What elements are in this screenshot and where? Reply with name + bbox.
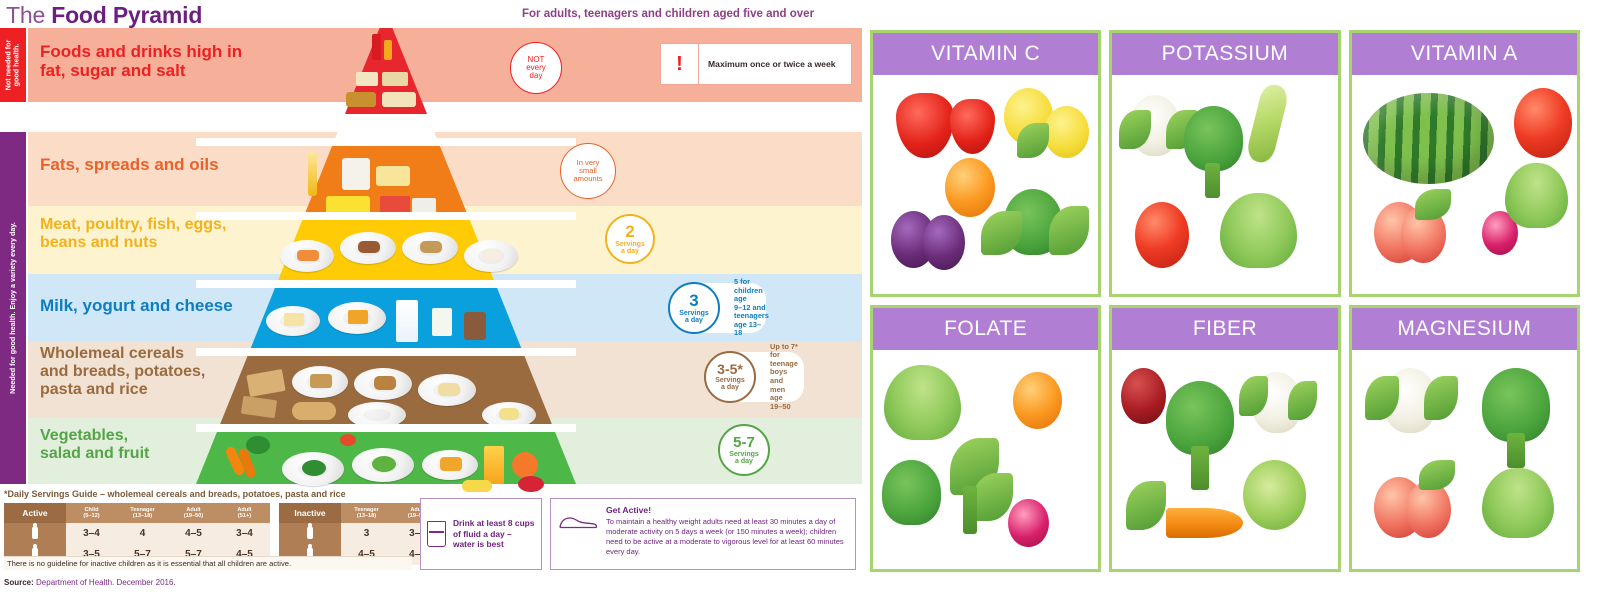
leaf-icon [1419,460,1455,491]
nutrient-cell-vitamin-c[interactable]: VITAMIN C [870,30,1101,297]
pyramid-tier-cereal [196,354,576,430]
tomato-icon [1514,88,1573,158]
cucumber-icon [1245,82,1290,165]
nutrient-cell-fiber[interactable]: FIBER [1109,305,1340,572]
nutrient-cell-vitamin-a[interactable]: VITAMIN A [1349,30,1580,297]
food-bread [310,374,332,388]
radish-icon [1008,499,1049,547]
food-sauce-pack [380,196,410,213]
pyramid-tier-vegetables [196,430,576,496]
nutrient-title: FOLATE [873,308,1098,350]
shoe-icon [558,514,598,531]
badge-milk-sub: Servings a day [679,310,709,325]
table-footnote: There is no guideline for inactive child… [4,556,412,570]
broccoli-stalk-icon [1191,446,1209,490]
strawberry-icon [896,93,955,159]
pyramid-tier-milk [196,286,576,354]
get-active-box: Get Active! To maintain a healthy weight… [550,498,856,570]
nutrient-foods [1352,350,1577,569]
badge-milk-servings: 3 Servings a day [668,282,720,334]
badge-veg-number: 5-7 [733,435,755,451]
badge-veg-servings: 5-7 Servings a day [718,424,770,476]
nutrient-grid-panel: VITAMIN C POTASSIUM [862,0,1600,600]
table-cell: 3 [341,523,392,544]
badge-not-line3: day [530,72,543,80]
food-cheddar [348,310,368,324]
orange-icon [945,158,995,217]
lettuce-icon [884,365,961,439]
max-frequency-box: ! Maximum once or twice a week [660,43,852,85]
food-banana [462,480,492,492]
nutrient-foods [873,75,1098,294]
band-label-fats: Fats, spreads and oils [40,155,219,174]
nutrient-cell-magnesium[interactable]: MAGNESIUM [1349,305,1580,572]
band-label-cereal: Wholemeal cereals and breads, potatoes, … [40,345,205,399]
food-orange [512,452,538,478]
side-tab-not-needed: Not needed for good health. [0,28,26,102]
lettuce-icon [1482,468,1554,538]
food-cereal [374,376,396,390]
food-milkshake [464,312,486,340]
nutrient-grid: VITAMIN C POTASSIUM [870,30,1580,572]
cabbage-icon [1243,460,1306,530]
food-milk-glass [396,300,418,342]
nutrient-foods [1112,75,1337,294]
food-meat [358,241,380,253]
badge-very-small-amounts: In very small amounts [560,143,616,199]
carrot-icon [1166,508,1243,539]
get-active-body: To maintain a healthy weight adults need… [606,517,844,556]
table-header: Adult (51+) [219,503,270,523]
page-title: The Food Pyramid [6,2,202,29]
food-biscuit [356,72,378,86]
get-active-text-block: Get Active! To maintain a healthy weight… [606,505,848,563]
nutrient-foods [873,350,1098,569]
drink-water-box: Drink at least 8 cups of fluid a day – w… [420,498,542,570]
broccoli-icon [882,460,941,526]
broccoli-icon [1166,381,1234,455]
badge-cereal-number: 3-5* [717,362,743,377]
nutrient-foods [1352,75,1577,294]
nutrient-title: POTASSIUM [1112,33,1337,75]
leaf-icon [1415,189,1451,220]
leaf-icon [1017,123,1049,158]
badge-meat-sub: Servings a day [615,241,645,256]
tomato-icon [1135,202,1189,268]
band-label-vegetables: Vegetables, salad and fruit [40,427,149,463]
table-header: Child (5–12) [66,503,117,523]
table-category-active: Active [4,503,66,523]
food-egg [482,249,502,261]
food-spread-tub [342,158,370,190]
badge-small-line3: amounts [573,175,602,183]
food-snack [384,40,392,60]
food-cheese-wedge [284,313,304,326]
carrot-top-icon [1126,481,1167,529]
food-salmon [297,250,319,261]
food-salad [372,456,396,472]
nutrient-title: MAGNESIUM [1352,308,1577,350]
get-active-title: Get Active! [606,505,848,516]
broccoli-stalk-icon [1205,163,1221,198]
side-tab-not-needed-label: Not needed for good health. [5,27,22,103]
food-yogurt-pot [432,308,452,336]
broccoli-stalk-icon [1507,433,1525,468]
drink-water-text: Drink at least 8 cups of fluid a day – w… [453,518,534,550]
food-corn [499,408,519,420]
broccoli-icon [1184,106,1243,172]
food-broccoli [246,436,270,454]
source-text: Department of Health. December 2016. [34,578,176,587]
food-potato [438,383,460,396]
nutrient-title: VITAMIN A [1352,33,1577,75]
exclamation-icon: ! [661,44,699,84]
nutrient-title: FIBER [1112,308,1337,350]
mangosteen-icon [923,215,966,270]
food-butter [376,166,410,186]
source-label: Source: [4,578,34,587]
watermelon-icon [1363,93,1494,185]
lemon-icon [1044,106,1089,159]
broccoli-icon [1482,368,1550,442]
pyramid-tier-meat [196,218,576,286]
food-oil-bottle [308,152,317,196]
nutrient-cell-potassium[interactable]: POTASSIUM [1109,30,1340,297]
table-header: Teenager (13–18) [117,503,168,523]
side-tab-needed-label: Needed for good health. Enjoy a variety … [9,133,17,483]
food-orange-juice [484,446,504,484]
badge-not-every-day: NOT every day [510,42,562,94]
nutrient-foods [1112,350,1337,569]
stem-icon [963,486,977,534]
title-prefix: The [6,2,51,28]
food-veg-mix [440,457,462,471]
max-frequency-text: Maximum once or twice a week [699,44,851,84]
glass-icon [427,521,446,547]
source-line: Source: Department of Health. December 2… [4,578,176,587]
table-row: 3–4 4 4–5 3–4 [4,523,270,544]
orange-icon [1013,372,1063,429]
badge-milk-number: 3 [689,292,698,310]
table-category-inactive: Inactive [279,503,341,523]
nutrient-cell-folate[interactable]: FOLATE [870,305,1101,572]
badge-meat-servings: 2 Servings a day [605,214,655,264]
table-cell: 4 [117,523,168,544]
food-chocolate [382,92,416,107]
badge-cereal-servings: 3-5* Servings a day [704,351,756,403]
nutrient-title: VITAMIN C [873,33,1098,75]
table-cell: 3–4 [219,523,270,544]
food-crisps [382,72,408,86]
food-mayo-pack [412,198,436,213]
apple-icon [1121,368,1166,425]
table-header: Teenager (13–18) [341,503,392,523]
badge-cereal-sub: Servings a day [715,377,745,392]
strawberry-icon [950,99,995,154]
person-icon [279,523,341,544]
pyramid-tier-fats [196,144,576,218]
table-cell: 3–4 [66,523,117,544]
food-berries [518,476,544,492]
person-icon [4,523,66,544]
food-greens [302,460,326,476]
daily-servings-guide-note: *Daily Servings Guide – wholemeal cereal… [4,489,346,499]
badge-veg-sub: Servings a day [729,451,759,466]
food-tomato [340,434,356,446]
radish-greens-icon [1505,163,1568,229]
food-nuts [420,241,442,253]
food-bottle [372,34,381,60]
table-cell: 4–5 [168,523,219,544]
side-tab-needed: Needed for good health. Enjoy a variety … [0,132,26,484]
title-main: Food Pyramid [51,2,202,28]
lettuce-icon [1220,193,1297,267]
food-baguette [292,402,336,420]
food-pyramid-poster: The Food Pyramid For adults, teenagers a… [0,0,862,600]
table-header: Adult (19–50) [168,503,219,523]
leaf-icon [1288,381,1317,420]
food-cake [346,92,376,107]
badge-meat-number: 2 [625,223,634,241]
